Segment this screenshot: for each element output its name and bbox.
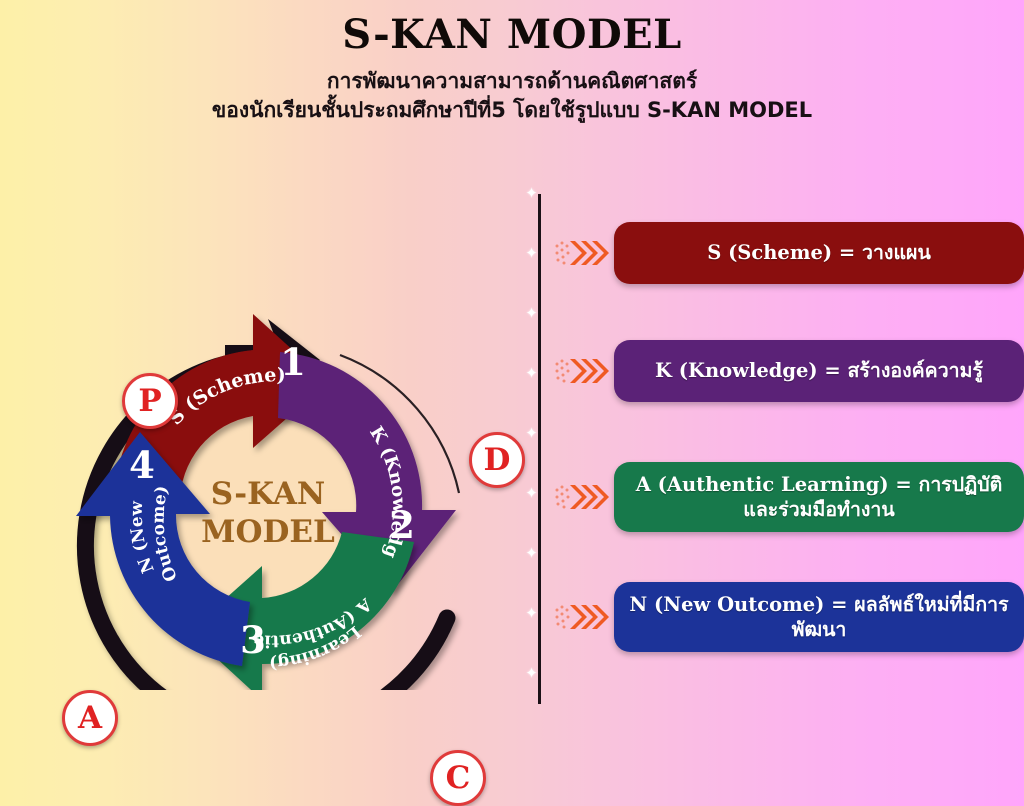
sparkle-icon: ✦	[524, 366, 539, 381]
badge-do[interactable]: D	[469, 432, 525, 488]
header: S-KAN MODEL การพัฒนาความสามารถด้านคณิตศา…	[0, 0, 1024, 124]
sparkle-icon: ✦	[524, 666, 539, 681]
center-text-line2: MODEL	[201, 514, 335, 550]
chevron-arrows-icon	[554, 480, 610, 514]
badge-do-letter: D	[484, 442, 511, 478]
legend-box-authentic: A (Authentic Learning) = การปฏิบัติและร่…	[614, 462, 1024, 532]
legend-panel: ✦ ✦ ✦ ✦ ✦ ✦ ✦ ✦ ✦ S (Scheme) = วางแผน	[530, 190, 1024, 710]
sparkle-icon: ✦	[524, 426, 539, 441]
badge-act[interactable]: A	[62, 690, 118, 746]
legend-box-knowledge: K (Knowledge) = สร้างองค์ความรู้	[614, 340, 1024, 402]
segment-step-4: 4	[129, 443, 155, 487]
legend-box-scheme: S (Scheme) = วางแผน	[614, 222, 1024, 284]
chevron-arrows-icon	[554, 354, 610, 388]
badge-check[interactable]: C	[430, 750, 486, 806]
legend-row-newoutcome[interactable]: N (New Outcome) = ผลลัพธ์ใหม่ที่มีการพัฒ…	[554, 582, 1024, 652]
badge-act-letter: A	[78, 700, 102, 736]
timeline-divider	[538, 194, 541, 704]
badge-plan[interactable]: P	[122, 373, 178, 429]
page-title: S-KAN MODEL	[0, 14, 1024, 56]
subtitle-line-2: ของนักเรียนชั้นประถมศึกษาปีที่5 โดยใช้รู…	[0, 97, 1024, 123]
badge-plan-letter: P	[138, 383, 161, 419]
skan-cycle-diagram: 1 2 3 4 S (Scheme) K (Knowledge) A (Auth…	[10, 160, 530, 690]
sparkle-icon: ✦	[524, 246, 539, 261]
chevron-arrows-icon	[554, 236, 610, 270]
sparkle-icon: ✦	[524, 546, 539, 561]
legend-row-scheme[interactable]: S (Scheme) = วางแผน	[554, 222, 1024, 284]
center-text-line1: S-KAN	[211, 476, 325, 512]
cycle-svg: 1 2 3 4 S (Scheme) K (Knowledge) A (Auth…	[10, 160, 530, 690]
subtitle-line-1: การพัฒนาความสามารถด้านคณิตศาสตร์	[0, 68, 1024, 94]
chevron-arrows-icon	[554, 600, 610, 634]
legend-row-authentic[interactable]: A (Authentic Learning) = การปฏิบัติและร่…	[554, 462, 1024, 532]
sparkle-icon: ✦	[524, 306, 539, 321]
sparkle-icon: ✦	[524, 486, 539, 501]
badge-check-letter: C	[446, 760, 471, 796]
legend-box-newoutcome: N (New Outcome) = ผลลัพธ์ใหม่ที่มีการพัฒ…	[614, 582, 1024, 652]
legend-row-knowledge[interactable]: K (Knowledge) = สร้างองค์ความรู้	[554, 340, 1024, 402]
sparkle-icon: ✦	[524, 606, 539, 621]
sparkle-icon: ✦	[524, 186, 539, 201]
